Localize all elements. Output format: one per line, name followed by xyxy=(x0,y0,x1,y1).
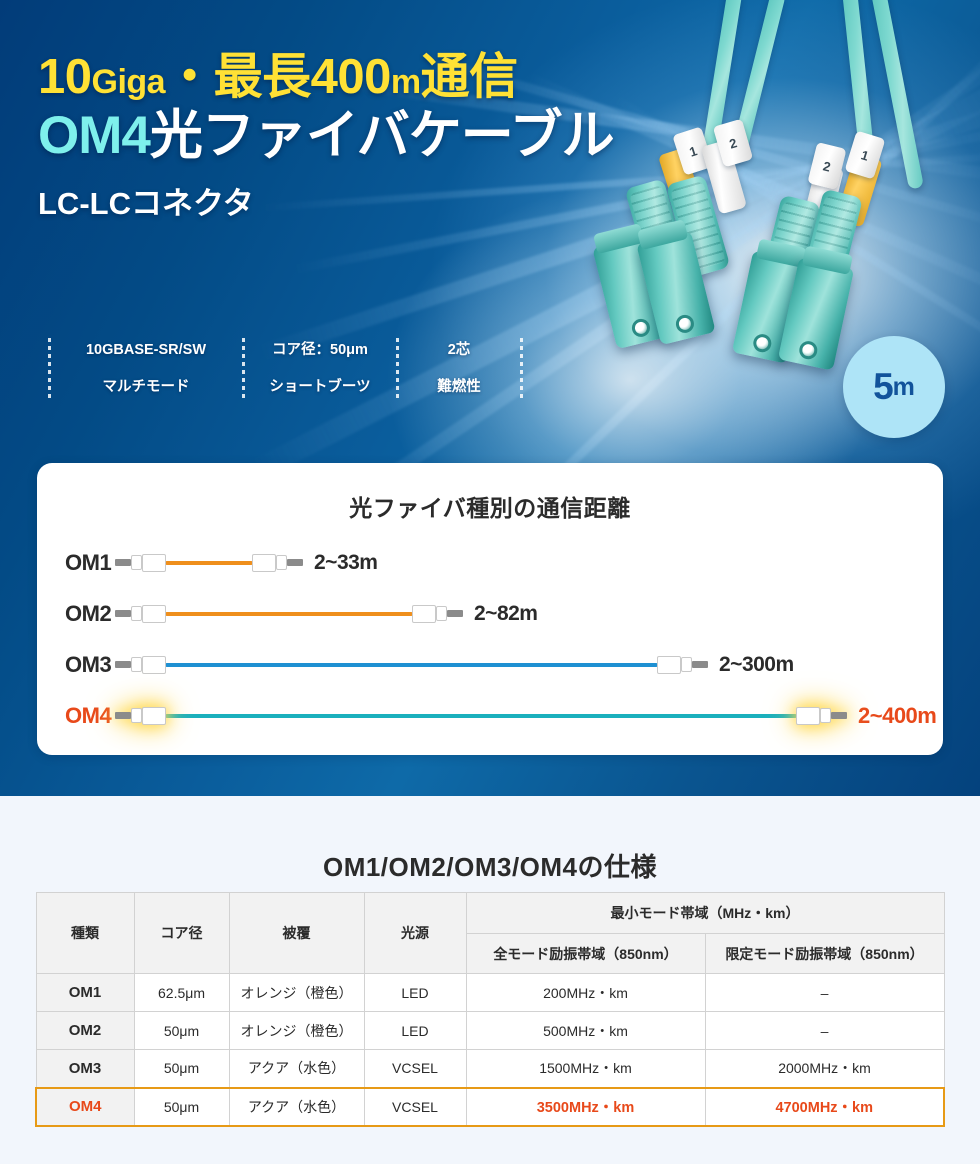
distance-row-label: OM3 xyxy=(37,652,115,678)
cell-kind: OM3 xyxy=(36,1050,134,1088)
spec-item-core: コア径：50μm ショートブーツ xyxy=(250,332,390,406)
distance-row-value: 2~400m xyxy=(858,703,936,729)
hero-product-name: 光ファイバケーブル xyxy=(150,106,614,165)
distance-row-om4: OM42~400m xyxy=(37,690,943,741)
cell-jacket: アクア（水色） xyxy=(229,1088,364,1126)
hero-distance-unit: m xyxy=(391,63,421,101)
hero-spec-strip: 10GBASE-SR/SW マルチモード コア径：50μm ショートブーツ 2芯… xyxy=(42,332,528,406)
cell-jacket: オレンジ（橙色） xyxy=(229,1012,364,1050)
hero-title-sep: ・最長 xyxy=(165,50,311,104)
connector-body xyxy=(657,656,681,674)
spec-divider xyxy=(396,338,399,400)
connector-barrel xyxy=(681,657,692,672)
ferrule xyxy=(674,313,696,335)
fiber-strand xyxy=(165,561,253,565)
col-header-core: コア径 xyxy=(134,893,229,974)
connector-stub xyxy=(447,610,463,617)
spec-table-row: OM162.5μmオレンジ（橙色）LED200MHz・km– xyxy=(36,974,944,1012)
connector-barrel xyxy=(131,708,142,723)
col-header-source: 光源 xyxy=(364,893,466,974)
spec-table-row: OM250μmオレンジ（橙色）LED500MHz・km– xyxy=(36,1012,944,1050)
connector-barrel xyxy=(131,657,142,672)
hero-title-line1: 10Giga・最長400m通信 xyxy=(38,52,614,104)
hero-distance-value: 400 xyxy=(311,50,391,104)
cell-source: VCSEL xyxy=(364,1050,466,1088)
connector-barrel xyxy=(131,606,142,621)
distance-chart-rows: OM12~33mOM22~82mOM32~300mOM42~400m xyxy=(37,537,943,741)
connector-barrel xyxy=(276,555,287,570)
spec-table-head: 種類 コア径 被覆 光源 最小モード帯域（MHz・km） 全モード励振帯域（85… xyxy=(36,893,944,974)
spec-table-header-row-1: 種類 コア径 被覆 光源 最小モード帯域（MHz・km） xyxy=(36,893,944,934)
product-banner-page: 1221 10Giga・最長400m通信 OM4光ファイバケーブル LC-LCコ… xyxy=(0,0,980,1164)
distance-chart-title: 光ファイバ種別の通信距離 xyxy=(37,489,943,523)
spec-item-standard: 10GBASE-SR/SW マルチモード xyxy=(56,332,236,406)
connector-barrel xyxy=(131,555,142,570)
distance-row-value: 2~300m xyxy=(719,653,794,677)
cell-kind: OM1 xyxy=(36,974,134,1012)
length-badge-value: 5 xyxy=(873,366,893,408)
spec-comparison-table: 種類 コア径 被覆 光源 最小モード帯域（MHz・km） 全モード励振帯域（85… xyxy=(35,892,945,1127)
fiber-strand xyxy=(165,612,413,616)
cell-core: 50μm xyxy=(134,1050,229,1088)
cable-connector-right xyxy=(796,707,847,725)
distance-row-value: 2~82m xyxy=(474,602,537,626)
spec-item-cores: 2芯 難燃性 xyxy=(404,332,514,406)
col-header-kind: 種類 xyxy=(36,893,134,974)
cell-limited-mode: – xyxy=(705,1012,944,1050)
spec-item-cores-bottom: 難燃性 xyxy=(404,369,514,406)
distance-chart-card: 光ファイバ種別の通信距離 OM12~33mOM22~82mOM32~300mOM… xyxy=(37,463,943,755)
spec-divider xyxy=(242,338,245,400)
hero-title-block: 10Giga・最長400m通信 OM4光ファイバケーブル LC-LCコネクタ xyxy=(38,52,614,223)
cell-jacket: オレンジ（橙色） xyxy=(229,974,364,1012)
cell-limited-mode: – xyxy=(705,974,944,1012)
connector-stub xyxy=(287,559,303,566)
spec-item-standard-bottom: マルチモード xyxy=(56,369,236,406)
connector-body xyxy=(142,554,166,572)
cell-core: 62.5μm xyxy=(134,974,229,1012)
spec-table-row: OM350μmアクア（水色）VCSEL1500MHz・km2000MHz・km xyxy=(36,1050,944,1088)
distance-row-om1: OM12~33m xyxy=(37,537,943,588)
spec-table-body: OM162.5μmオレンジ（橙色）LED200MHz・km–OM250μmオレン… xyxy=(36,974,944,1126)
fiber-strand xyxy=(165,714,797,718)
cable-connector-right xyxy=(657,656,708,674)
cell-core: 50μm xyxy=(134,1012,229,1050)
col-header-limited-mode: 限定モード励振帯域（850nm） xyxy=(705,934,944,974)
hero-speed-value: 10 xyxy=(38,50,92,104)
distance-row-om2: OM22~82m xyxy=(37,588,943,639)
cable-connector-left xyxy=(115,605,166,623)
cell-limited-mode: 4700MHz・km xyxy=(705,1088,944,1126)
connector-body xyxy=(412,605,436,623)
cell-full-mode: 200MHz・km xyxy=(466,974,705,1012)
connector-marker-2: 2 xyxy=(807,142,846,190)
spec-item-core-bottom: ショートブーツ xyxy=(250,369,390,406)
ferrule xyxy=(798,340,819,361)
spec-section-title: OM1/OM2/OM3/OM4の仕様 xyxy=(0,847,980,884)
cable-graphic: 2~33m xyxy=(115,551,377,575)
connector-barrel xyxy=(820,708,831,723)
distance-row-value: 2~33m xyxy=(314,551,377,575)
connector-marker-1: 1 xyxy=(845,131,886,180)
hero-speed-unit: Giga xyxy=(92,63,166,101)
hero-title-line3: LC-LCコネクタ xyxy=(38,178,614,223)
cell-core: 50μm xyxy=(134,1088,229,1126)
distance-row-om3: OM32~300m xyxy=(37,639,943,690)
connector-stub xyxy=(115,661,131,668)
fiber-strand xyxy=(165,663,658,667)
cell-kind: OM2 xyxy=(36,1012,134,1050)
spec-item-cores-top: 2芯 xyxy=(448,342,471,358)
spec-table-row: OM450μmアクア（水色）VCSEL3500MHz・km4700MHz・km xyxy=(36,1088,944,1126)
hero-title-line2: OM4光ファイバケーブル xyxy=(38,107,614,165)
cell-limited-mode: 2000MHz・km xyxy=(705,1050,944,1088)
cable-graphic: 2~82m xyxy=(115,602,537,626)
length-badge: 5m xyxy=(843,336,945,438)
cable-connector-right xyxy=(412,605,463,623)
spec-divider xyxy=(48,338,51,400)
cable-graphic: 2~400m xyxy=(115,704,936,728)
cable-graphic: 2~300m xyxy=(115,653,794,677)
spec-item-core-top: コア径：50μm xyxy=(272,342,368,358)
connector-stub xyxy=(115,712,131,719)
cell-source: LED xyxy=(364,974,466,1012)
connector-body xyxy=(142,656,166,674)
distance-row-label: OM4 xyxy=(37,703,115,729)
distance-row-label: OM1 xyxy=(37,550,115,576)
connector-stub xyxy=(115,559,131,566)
hero-om4-label: OM4 xyxy=(38,106,150,165)
cable-connector-right xyxy=(252,554,303,572)
hero-title-suffix: 通信 xyxy=(421,50,518,104)
spec-divider xyxy=(520,338,523,400)
cell-jacket: アクア（水色） xyxy=(229,1050,364,1088)
col-header-full-mode: 全モード励振帯域（850nm） xyxy=(466,934,705,974)
cable-connector-left xyxy=(115,656,166,674)
cell-source: VCSEL xyxy=(364,1088,466,1126)
cell-full-mode: 1500MHz・km xyxy=(466,1050,705,1088)
connector-body xyxy=(142,605,166,623)
connector-body xyxy=(252,554,276,572)
ferrule xyxy=(630,317,652,339)
col-header-jacket: 被覆 xyxy=(229,893,364,974)
ferrule xyxy=(752,333,773,354)
cable-connector-left xyxy=(115,707,166,725)
length-badge-unit: m xyxy=(893,373,915,402)
col-header-bandwidth-group: 最小モード帯域（MHz・km） xyxy=(466,893,944,934)
cable-connector-left xyxy=(115,554,166,572)
connector-barrel xyxy=(436,606,447,621)
cell-kind: OM4 xyxy=(36,1088,134,1126)
cell-full-mode: 500MHz・km xyxy=(466,1012,705,1050)
connector-body xyxy=(142,707,166,725)
cell-full-mode: 3500MHz・km xyxy=(466,1088,705,1126)
connector-stub xyxy=(692,661,708,668)
connector-stub xyxy=(831,712,847,719)
distance-row-label: OM2 xyxy=(37,601,115,627)
connector-body xyxy=(796,707,820,725)
cell-source: LED xyxy=(364,1012,466,1050)
spec-table-section: OM1/OM2/OM3/OM4の仕様 種類 コア径 被覆 光源 最小モード帯域（… xyxy=(0,796,980,1164)
spec-item-standard-top: 10GBASE-SR/SW xyxy=(86,342,206,358)
connector-stub xyxy=(115,610,131,617)
